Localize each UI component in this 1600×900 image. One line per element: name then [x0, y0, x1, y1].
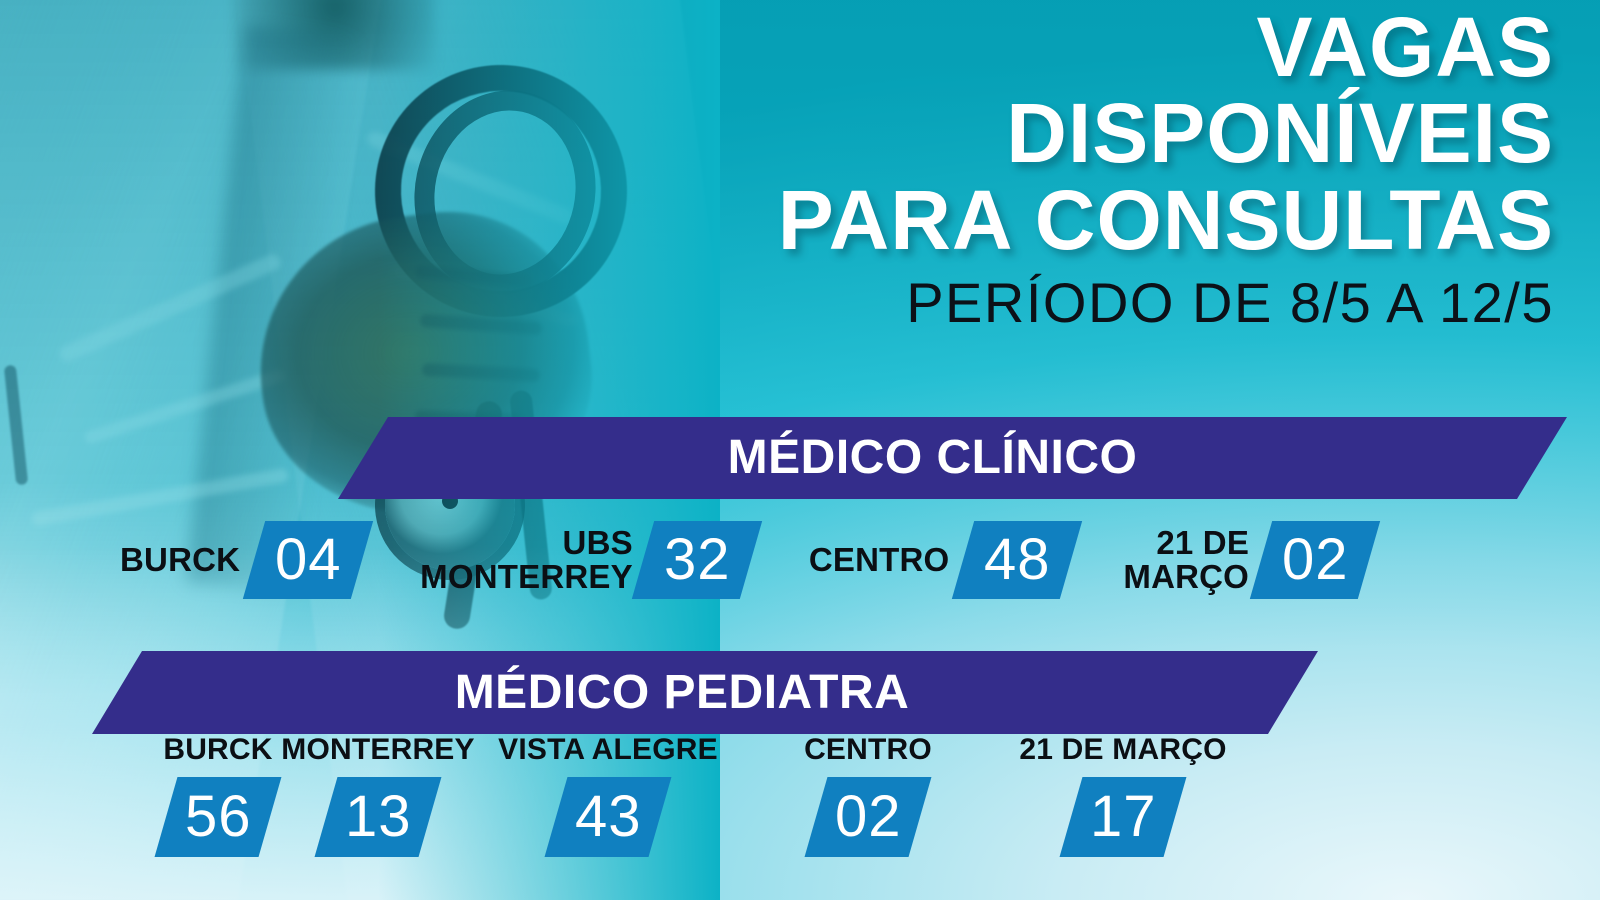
vagas-count: 04 — [275, 531, 342, 589]
unit-name: VISTA ALEGRE — [458, 735, 758, 765]
unit-row-medico-clinico: BURCK04UBS MONTERREY32CENTRO4821 DE MARÇ… — [120, 506, 1480, 614]
poster-canvas: VAGAS DISPONÍVEIS PARA CONSULTAS PERÍODO… — [0, 0, 1600, 900]
vagas-count: 43 — [575, 788, 642, 846]
unit-cell: UBS MONTERREY32 — [420, 521, 751, 599]
vagas-chip: 02 — [1250, 521, 1380, 599]
vagas-count: 02 — [1282, 531, 1349, 589]
unit-cell: VISTA ALEGRE43 — [458, 735, 758, 857]
unit-row-medico-pediatra: BURCK56MONTERREY13VISTA ALEGRE43CENTRO02… — [58, 735, 1338, 895]
section-title-medico-clinico: MÉDICO CLÍNICO — [728, 434, 1138, 482]
vagas-chip: 04 — [243, 521, 373, 599]
headline-line-2: DISPONÍVEIS — [594, 92, 1554, 174]
section-banner-medico-clinico: MÉDICO CLÍNICO — [338, 417, 1567, 499]
vagas-chip: 02 — [805, 777, 932, 857]
unit-cell: CENTRO48 — [809, 521, 1072, 599]
vagas-chip-wrap: 17 — [973, 777, 1273, 857]
unit-name: BURCK — [120, 543, 240, 577]
vagas-count: 32 — [664, 531, 731, 589]
vagas-count: 48 — [984, 531, 1051, 589]
vagas-chip: 32 — [632, 521, 762, 599]
headline-line-1: VAGAS — [594, 6, 1554, 88]
section-title-medico-pediatra: MÉDICO PEDIATRA — [455, 669, 910, 717]
period-subtitle: PERÍODO DE 8/5 A 12/5 — [594, 275, 1554, 331]
unit-name: 21 DE MARÇO — [973, 735, 1273, 765]
unit-cell: 21 DE MARÇO17 — [973, 735, 1273, 857]
vagas-count: 17 — [1090, 788, 1157, 846]
vagas-count: 13 — [345, 788, 412, 846]
headline-block: VAGAS DISPONÍVEIS PARA CONSULTAS PERÍODO… — [594, 6, 1554, 331]
vagas-chip: 13 — [315, 777, 442, 857]
vagas-chip-wrap: 43 — [458, 777, 758, 857]
section-banner-medico-pediatra: MÉDICO PEDIATRA — [92, 651, 1318, 734]
unit-name: UBS MONTERREY — [420, 526, 633, 593]
vagas-chip: 43 — [545, 777, 672, 857]
unit-name: CENTRO — [809, 543, 950, 577]
vagas-chip: 17 — [1060, 777, 1187, 857]
headline-line-3: PARA CONSULTAS — [594, 179, 1554, 261]
vagas-count: 02 — [835, 788, 902, 846]
unit-name: 21 DE MARÇO — [1123, 526, 1249, 593]
unit-cell: 21 DE MARÇO02 — [1123, 521, 1369, 599]
vagas-chip: 48 — [952, 521, 1082, 599]
unit-cell: BURCK04 — [120, 521, 362, 599]
